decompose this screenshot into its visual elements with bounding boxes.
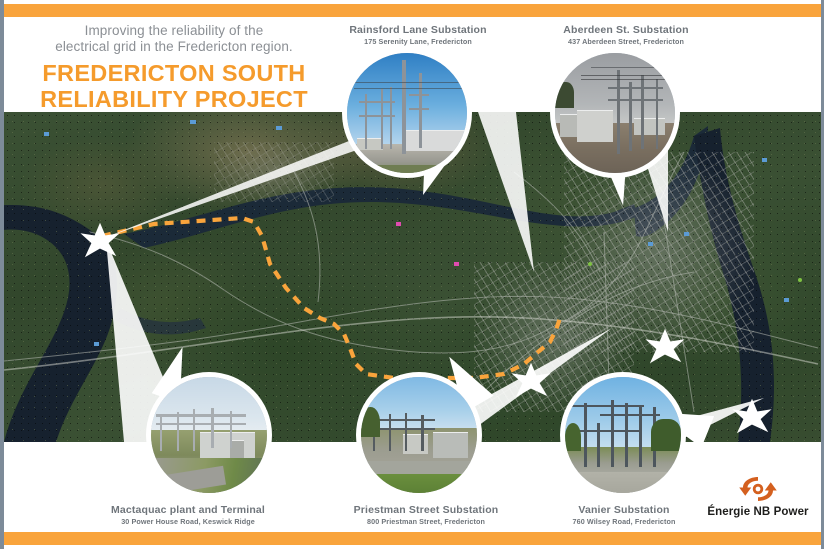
star-marker-vanier bbox=[734, 400, 770, 432]
star-marker-mactaquac bbox=[82, 224, 118, 256]
callout-photo-mactaquac bbox=[151, 377, 267, 493]
page-title: FREDERICTON SOUTH RELIABILITY PROJECT bbox=[4, 61, 344, 112]
callout-mactaquac-plant-and-terminal[interactable] bbox=[146, 372, 286, 502]
nb-power-recycle-arrows-icon bbox=[737, 474, 779, 504]
bottom-accent-bar bbox=[4, 532, 821, 545]
caption-rainsford-lane-substation: Rainsford Lane Substation 175 Serenity L… bbox=[298, 24, 538, 47]
callout-photo-priestman bbox=[361, 377, 477, 493]
brand-logo-text: Énergie NB Power bbox=[698, 506, 818, 518]
callout-photo-rainsford bbox=[347, 53, 467, 173]
caption-mactaquac-plant-and-terminal: Mactaquac plant and Terminal 30 Power Ho… bbox=[68, 504, 308, 527]
caption-title-mactaquac: Mactaquac plant and Terminal bbox=[68, 504, 308, 517]
callout-rainsford-lane-substation[interactable] bbox=[342, 48, 494, 200]
callout-photo-vanier bbox=[565, 377, 681, 493]
header-subtitle-line1: Improving the reliability of the bbox=[4, 23, 344, 39]
caption-address-mactaquac: 30 Power House Road, Keswick Ridge bbox=[68, 517, 308, 527]
caption-title-aberdeen: Aberdeen St. Substation bbox=[506, 24, 746, 37]
caption-title-rainsford: Rainsford Lane Substation bbox=[298, 24, 538, 37]
brand-logo[interactable]: Énergie NB Power bbox=[698, 474, 818, 530]
page-title-line1: FREDERICTON SOUTH bbox=[4, 61, 344, 87]
caption-address-rainsford: 175 Serenity Lane, Fredericton bbox=[298, 37, 538, 47]
header-subtitle: Improving the reliability of the electri… bbox=[4, 23, 344, 55]
star-marker-aberdeen bbox=[647, 330, 683, 362]
poster-canvas: Improving the reliability of the electri… bbox=[0, 0, 824, 549]
star-marker-rainsford bbox=[513, 364, 549, 396]
top-accent-bar bbox=[4, 4, 821, 17]
page-title-line2: RELIABILITY PROJECT bbox=[4, 87, 344, 113]
callout-vanier-substation[interactable] bbox=[560, 372, 710, 502]
caption-address-aberdeen: 437 Aberdeen Street, Fredericton bbox=[506, 37, 746, 47]
callout-aberdeen-st-substation[interactable] bbox=[550, 48, 702, 208]
header-subtitle-line2: electrical grid in the Fredericton regio… bbox=[4, 39, 344, 55]
header-block: Improving the reliability of the electri… bbox=[4, 17, 344, 112]
callout-photo-aberdeen bbox=[555, 53, 675, 173]
caption-aberdeen-st-substation: Aberdeen St. Substation 437 Aberdeen Str… bbox=[506, 24, 746, 47]
callout-priestman-street-substation[interactable] bbox=[356, 372, 496, 502]
